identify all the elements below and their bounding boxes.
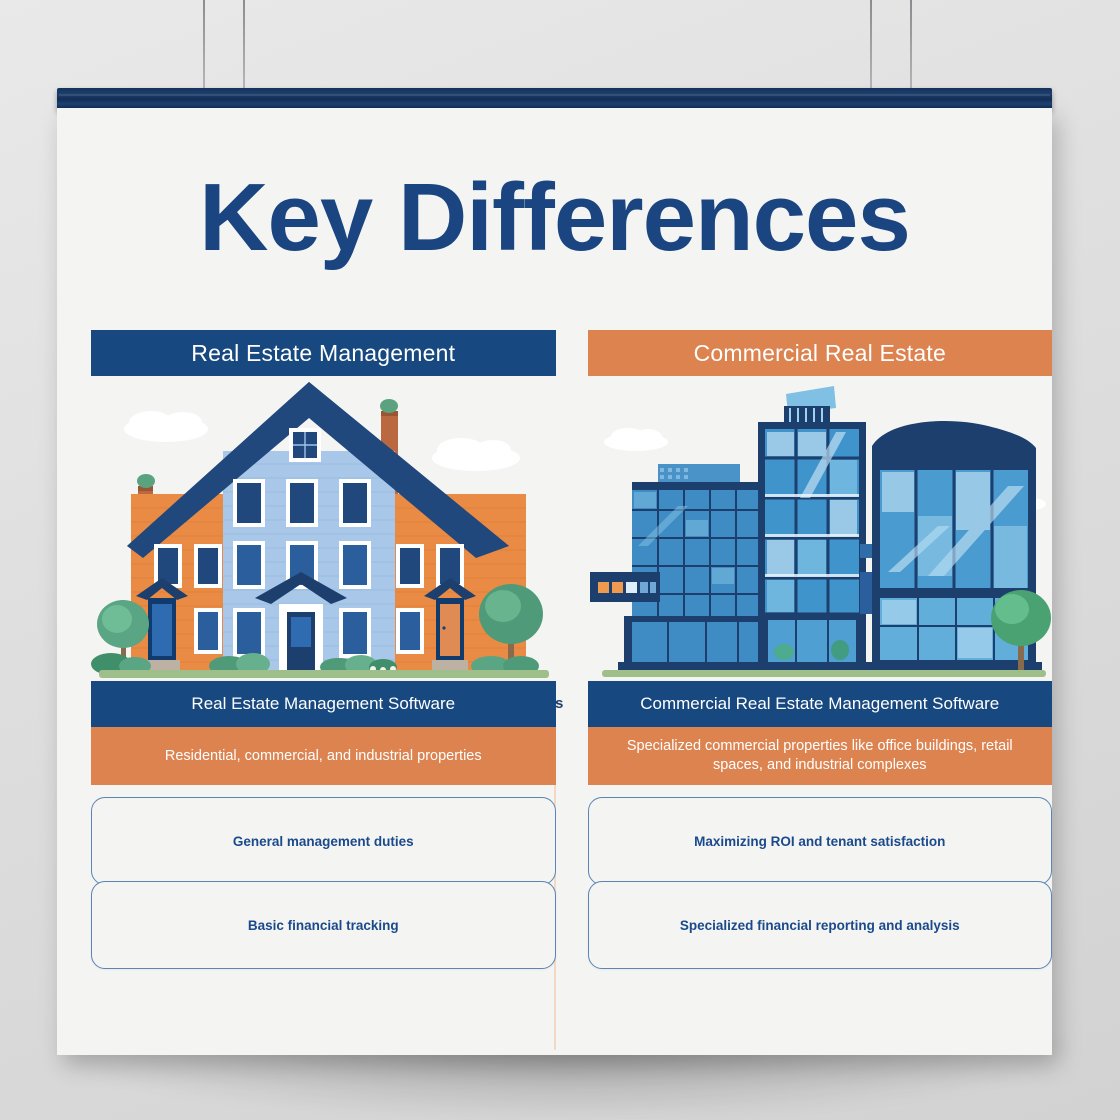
hanging-wire <box>910 0 912 98</box>
band-title-commercial: Commercial Real Estate Management Softwa… <box>588 681 1053 727</box>
comparison-column-commercial: Commercial Real Estate <box>588 330 1053 1042</box>
column-header-residential: Real Estate Management <box>91 330 556 376</box>
hanging-wire <box>870 0 872 98</box>
band-subtitle-residential: Residential, commercial, and industrial … <box>91 727 556 785</box>
hanging-wire <box>203 0 205 98</box>
bullet-item: Maximizing ROI and tenant satisfaction <box>588 797 1053 885</box>
infographic-poster: Key Differences vs Real Estate Managemen… <box>57 108 1052 1055</box>
bullet-item: General management duties <box>91 797 556 885</box>
hanging-wire <box>243 0 245 98</box>
bullet-group-commercial: Maximizing ROI and tenant satisfaction S… <box>588 797 1053 972</box>
page-title: Key Differences <box>57 170 1052 266</box>
column-header-commercial: Commercial Real Estate <box>588 330 1053 376</box>
bullet-group-residential: General management duties Basic financia… <box>91 797 556 972</box>
comparison-column-residential: Real Estate Management <box>91 330 556 1042</box>
residential-house-illustration <box>91 376 556 681</box>
bullet-item: Basic financial tracking <box>91 881 556 969</box>
band-title-residential: Real Estate Management Software <box>91 681 556 727</box>
band-subtitle-commercial: Specialized commercial properties like o… <box>588 727 1053 785</box>
commercial-office-building-illustration <box>588 376 1053 681</box>
bullet-item: Specialized financial reporting and anal… <box>588 881 1053 969</box>
comparison-area: Real Estate Management <box>57 330 1052 1042</box>
poster-hanger-rail <box>57 88 1052 110</box>
